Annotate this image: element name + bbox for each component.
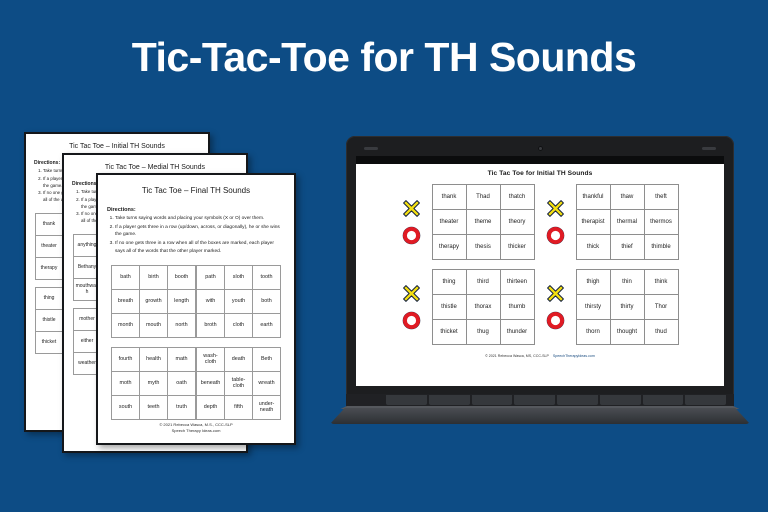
screen-footer: © 2021 Rebecca Wasca, MS, CCC-SLP Speech… — [364, 354, 716, 358]
paper-stack: Tic Tac Toe – Initial TH Sounds Directio… — [0, 0, 330, 512]
grid-row: monthmouthnorth — [112, 314, 196, 338]
o-mark-icon — [546, 226, 565, 245]
grid-row: thornthoughtthud — [576, 320, 678, 345]
laptop-screen[interactable]: Tic Tac Toe for Initial TH Sounds thankT… — [356, 164, 724, 386]
grid-cell[interactable]: thick — [576, 235, 610, 260]
grid-cell[interactable]: earth — [253, 314, 281, 338]
grid-cell[interactable]: mouth — [140, 314, 168, 338]
worksheet-final-th[interactable]: Tic Tac Toe – Final TH Sounds Directions… — [96, 173, 296, 445]
grid-row: thistlethoraxthumb — [432, 295, 534, 320]
tictactoe-grid[interactable]: fourthhealthmath mothmythoath southteeth… — [111, 347, 196, 420]
footer-site: Speech Therapy Ideas.com — [98, 428, 294, 434]
o-mark-icon — [402, 311, 421, 330]
grid-row: mothmythoath — [112, 372, 196, 396]
keyboard-keys[interactable] — [386, 395, 726, 405]
direction-step: Take turns saying words and placing your… — [115, 215, 284, 223]
grid-cell[interactable]: thing — [36, 288, 63, 310]
key[interactable] — [472, 395, 513, 405]
grid-cell[interactable]: therapist — [576, 210, 610, 235]
grid-row: thickthiefthimble — [576, 235, 678, 260]
grid-row: theaterthemetheory — [432, 210, 534, 235]
grid-row: beneathtable- clothwreath — [197, 372, 281, 396]
speaker-grille-right-icon — [702, 147, 716, 150]
worksheet-title: Tic Tac Toe – Final TH Sounds — [98, 186, 294, 195]
tictactoe-grid[interactable]: thankfulthawtheft therapistthermalthermo… — [576, 184, 679, 260]
grid-row: thighthinthink — [576, 270, 678, 295]
grid-cell[interactable]: Thor — [644, 295, 678, 320]
grid-cell[interactable]: thumb — [500, 295, 534, 320]
grid-row: breathgrowthlength — [112, 290, 196, 314]
trackpad-notch[interactable] — [511, 428, 569, 433]
grid-cell[interactable]: thatch — [500, 185, 534, 210]
grid-cell[interactable]: thug — [466, 320, 500, 345]
grid-cell[interactable]: thank — [432, 185, 466, 210]
grid-group: thingthirdthirteen thistlethoraxthumb th… — [402, 269, 535, 345]
grid-cell[interactable]: month — [112, 314, 140, 338]
grid-cell[interactable]: birth — [140, 266, 168, 290]
grid-cell[interactable]: myth — [140, 372, 168, 396]
grid-cell[interactable]: thirsty — [576, 295, 610, 320]
grid-cell[interactable]: sloth — [225, 266, 253, 290]
grid-cell[interactable]: therapy — [36, 258, 63, 280]
grid-cell[interactable]: tooth — [253, 266, 281, 290]
grid-row: pathslothtooth — [197, 266, 281, 290]
grid-cell[interactable]: thaw — [610, 185, 644, 210]
grid-cell[interactable]: wash- cloth — [197, 348, 225, 372]
grid-cell[interactable]: beneath — [197, 372, 225, 396]
grid-cell[interactable]: youth — [225, 290, 253, 314]
grid-area: bathbirthbooth breathgrowthlength monthm… — [98, 265, 294, 420]
grid-cell[interactable]: under- neath — [253, 396, 281, 420]
grid-cell[interactable]: growth — [140, 290, 168, 314]
key[interactable] — [643, 395, 684, 405]
grid-cell[interactable]: thing — [432, 270, 466, 295]
grid-cell[interactable]: thief — [610, 235, 644, 260]
marker-legend — [546, 199, 565, 245]
grid-cell[interactable]: teeth — [140, 396, 168, 420]
grid-cell[interactable]: thicket — [432, 320, 466, 345]
grid-group: thankThadthatch theaterthemetheory thera… — [402, 184, 535, 260]
tictactoe-grid[interactable]: pathslothtooth withyouthboth brothclothe… — [196, 265, 281, 338]
grid-cell[interactable]: third — [466, 270, 500, 295]
laptop-mockup: Tic Tac Toe for Initial TH Sounds thankT… — [330, 136, 750, 426]
grid-cell[interactable]: thirteen — [500, 270, 534, 295]
footer-site-link[interactable]: SpeechTherapyIdeas.com — [553, 354, 595, 358]
grid-cell[interactable]: fourth — [112, 348, 140, 372]
grid-cell[interactable]: think — [644, 270, 678, 295]
x-mark-icon — [402, 199, 421, 218]
grid-cell[interactable]: thicker — [500, 235, 534, 260]
grid-group: thighthinthink thirstythirtyThor thornth… — [546, 269, 679, 345]
grid-row: thirstythirtyThor — [576, 295, 678, 320]
grid-cell[interactable]: theater — [432, 210, 466, 235]
grid-cell[interactable]: thought — [610, 320, 644, 345]
grid-row: bathbirthbooth — [112, 266, 196, 290]
marker-legend — [546, 284, 565, 330]
grid-cell[interactable]: death — [225, 348, 253, 372]
webcam-icon — [538, 146, 543, 151]
grid-cell[interactable]: thunder — [500, 320, 534, 345]
grid-cell[interactable]: math — [168, 348, 196, 372]
grid-cell[interactable]: bath — [112, 266, 140, 290]
grid-cell[interactable]: cloth — [225, 314, 253, 338]
grid-cell[interactable]: broth — [197, 314, 225, 338]
grid-cell[interactable]: path — [197, 266, 225, 290]
grid-cell[interactable]: theory — [500, 210, 534, 235]
grid-cell[interactable]: south — [112, 396, 140, 420]
grid-cell[interactable]: theme — [466, 210, 500, 235]
grid-row: brothclothearth — [197, 314, 281, 338]
grid-cell[interactable]: depth — [197, 396, 225, 420]
key[interactable] — [386, 395, 427, 405]
grid-cell[interactable]: both — [253, 290, 281, 314]
x-mark-icon — [546, 284, 565, 303]
o-mark-icon — [546, 311, 565, 330]
grid-row: thicketthugthunder — [432, 320, 534, 345]
directions-list: Take turns saying words and placing your… — [98, 215, 294, 255]
grid-cell[interactable]: thankful — [576, 185, 610, 210]
grid-cell[interactable]: health — [140, 348, 168, 372]
o-mark-icon — [402, 226, 421, 245]
grid-cell[interactable]: thimble — [644, 235, 678, 260]
grid-cell[interactable]: Thad — [466, 185, 500, 210]
laptop-front-edge — [330, 408, 750, 424]
tictactoe-grid[interactable]: thankThadthatch theaterthemetheory thera… — [432, 184, 535, 260]
screen-title: Tic Tac Toe for Initial TH Sounds — [364, 170, 716, 177]
grid-cell[interactable]: thud — [644, 320, 678, 345]
grid-cell[interactable]: thistle — [432, 295, 466, 320]
directions-heading: Directions: — [107, 207, 294, 213]
tictactoe-grid[interactable]: bathbirthbooth breathgrowthlength monthm… — [111, 265, 196, 338]
tictactoe-grid[interactable]: thighthinthink thirstythirtyThor thornth… — [576, 269, 679, 345]
direction-step: If no one gets three in a row when all o… — [115, 240, 284, 255]
grid-cell[interactable]: thicket — [36, 332, 63, 354]
grid-row: thankfulthawtheft — [576, 185, 678, 210]
tictactoe-grid[interactable]: wash- clothdeathBeth beneathtable- cloth… — [196, 347, 281, 420]
grid-cell[interactable]: thorn — [576, 320, 610, 345]
key[interactable] — [429, 395, 470, 405]
screen-bezel — [356, 156, 724, 164]
grid-cell[interactable]: therapy — [432, 235, 466, 260]
grid-cell[interactable]: north — [168, 314, 196, 338]
key[interactable] — [557, 395, 598, 405]
grid-cell[interactable]: thistle — [36, 310, 63, 332]
screen-grid-row: thingthirdthirteen thistlethoraxthumb th… — [364, 269, 716, 345]
grid-cell[interactable]: wreath — [253, 372, 281, 396]
grid-cell[interactable]: length — [168, 290, 196, 314]
grid-cell[interactable]: oath — [168, 372, 196, 396]
grid-row: southteethtruth — [112, 396, 196, 420]
grid-cell[interactable]: thermal — [610, 210, 644, 235]
grid-cell[interactable]: moth — [112, 372, 140, 396]
key[interactable] — [514, 395, 555, 405]
grid-cell[interactable]: booth — [168, 266, 196, 290]
footer-copyright: © 2021 Rebecca Wasca, MS, CCC-SLP — [485, 354, 549, 358]
x-mark-icon — [546, 199, 565, 218]
direction-step: If a player gets three in a row (up/down… — [115, 224, 284, 239]
grid-row: therapythesisthicker — [432, 235, 534, 260]
grid-cell[interactable]: thirty — [610, 295, 644, 320]
marker-legend — [402, 199, 421, 245]
grid-cell[interactable]: thigh — [576, 270, 610, 295]
grid-group: thankfulthawtheft therapistthermalthermo… — [546, 184, 679, 260]
grid-cell[interactable]: truth — [168, 396, 196, 420]
grid-cell[interactable]: thorax — [466, 295, 500, 320]
grid-row: withyouthboth — [197, 290, 281, 314]
grid-cell[interactable]: fifth — [225, 396, 253, 420]
screen-grid-row: thankThadthatch theaterthemetheory thera… — [364, 184, 716, 260]
speaker-grille-left-icon — [364, 147, 378, 150]
key[interactable] — [685, 395, 726, 405]
grid-row: thingthirdthirteen — [432, 270, 534, 295]
laptop-base — [330, 394, 750, 424]
grid-row: wash- clothdeathBeth — [197, 348, 281, 372]
grid-cell[interactable]: theater — [36, 236, 63, 258]
grid-cell[interactable]: theft — [644, 185, 678, 210]
grid-cell[interactable]: thermos — [644, 210, 678, 235]
marker-legend — [402, 284, 421, 330]
grid-row: thankThadthatch — [432, 185, 534, 210]
tictactoe-grid[interactable]: thingthirdthirteen thistlethoraxthumb th… — [432, 269, 535, 345]
grid-cell[interactable]: table- cloth — [225, 372, 253, 396]
worksheet-title: Tic Tac Toe – Initial TH Sounds — [26, 143, 208, 150]
grid-cell[interactable]: breath — [112, 290, 140, 314]
key[interactable] — [600, 395, 641, 405]
worksheet-title: Tic Tac Toe – Medial TH Sounds — [64, 164, 246, 171]
grid-cell[interactable]: Beth — [253, 348, 281, 372]
grid-row: depthfifthunder- neath — [197, 396, 281, 420]
grid-cell[interactable]: thank — [36, 214, 63, 236]
x-mark-icon — [402, 284, 421, 303]
grid-cell[interactable]: thin — [610, 270, 644, 295]
laptop-lid: Tic Tac Toe for Initial TH Sounds thankT… — [346, 136, 734, 404]
grid-cell[interactable]: thesis — [466, 235, 500, 260]
grid-row: fourthhealthmath — [112, 348, 196, 372]
worksheet-footer: © 2021 Rebecca Wasca, M.S., CCC-SLP Spee… — [98, 422, 294, 434]
grid-row: therapistthermalthermos — [576, 210, 678, 235]
grid-cell[interactable]: with — [197, 290, 225, 314]
